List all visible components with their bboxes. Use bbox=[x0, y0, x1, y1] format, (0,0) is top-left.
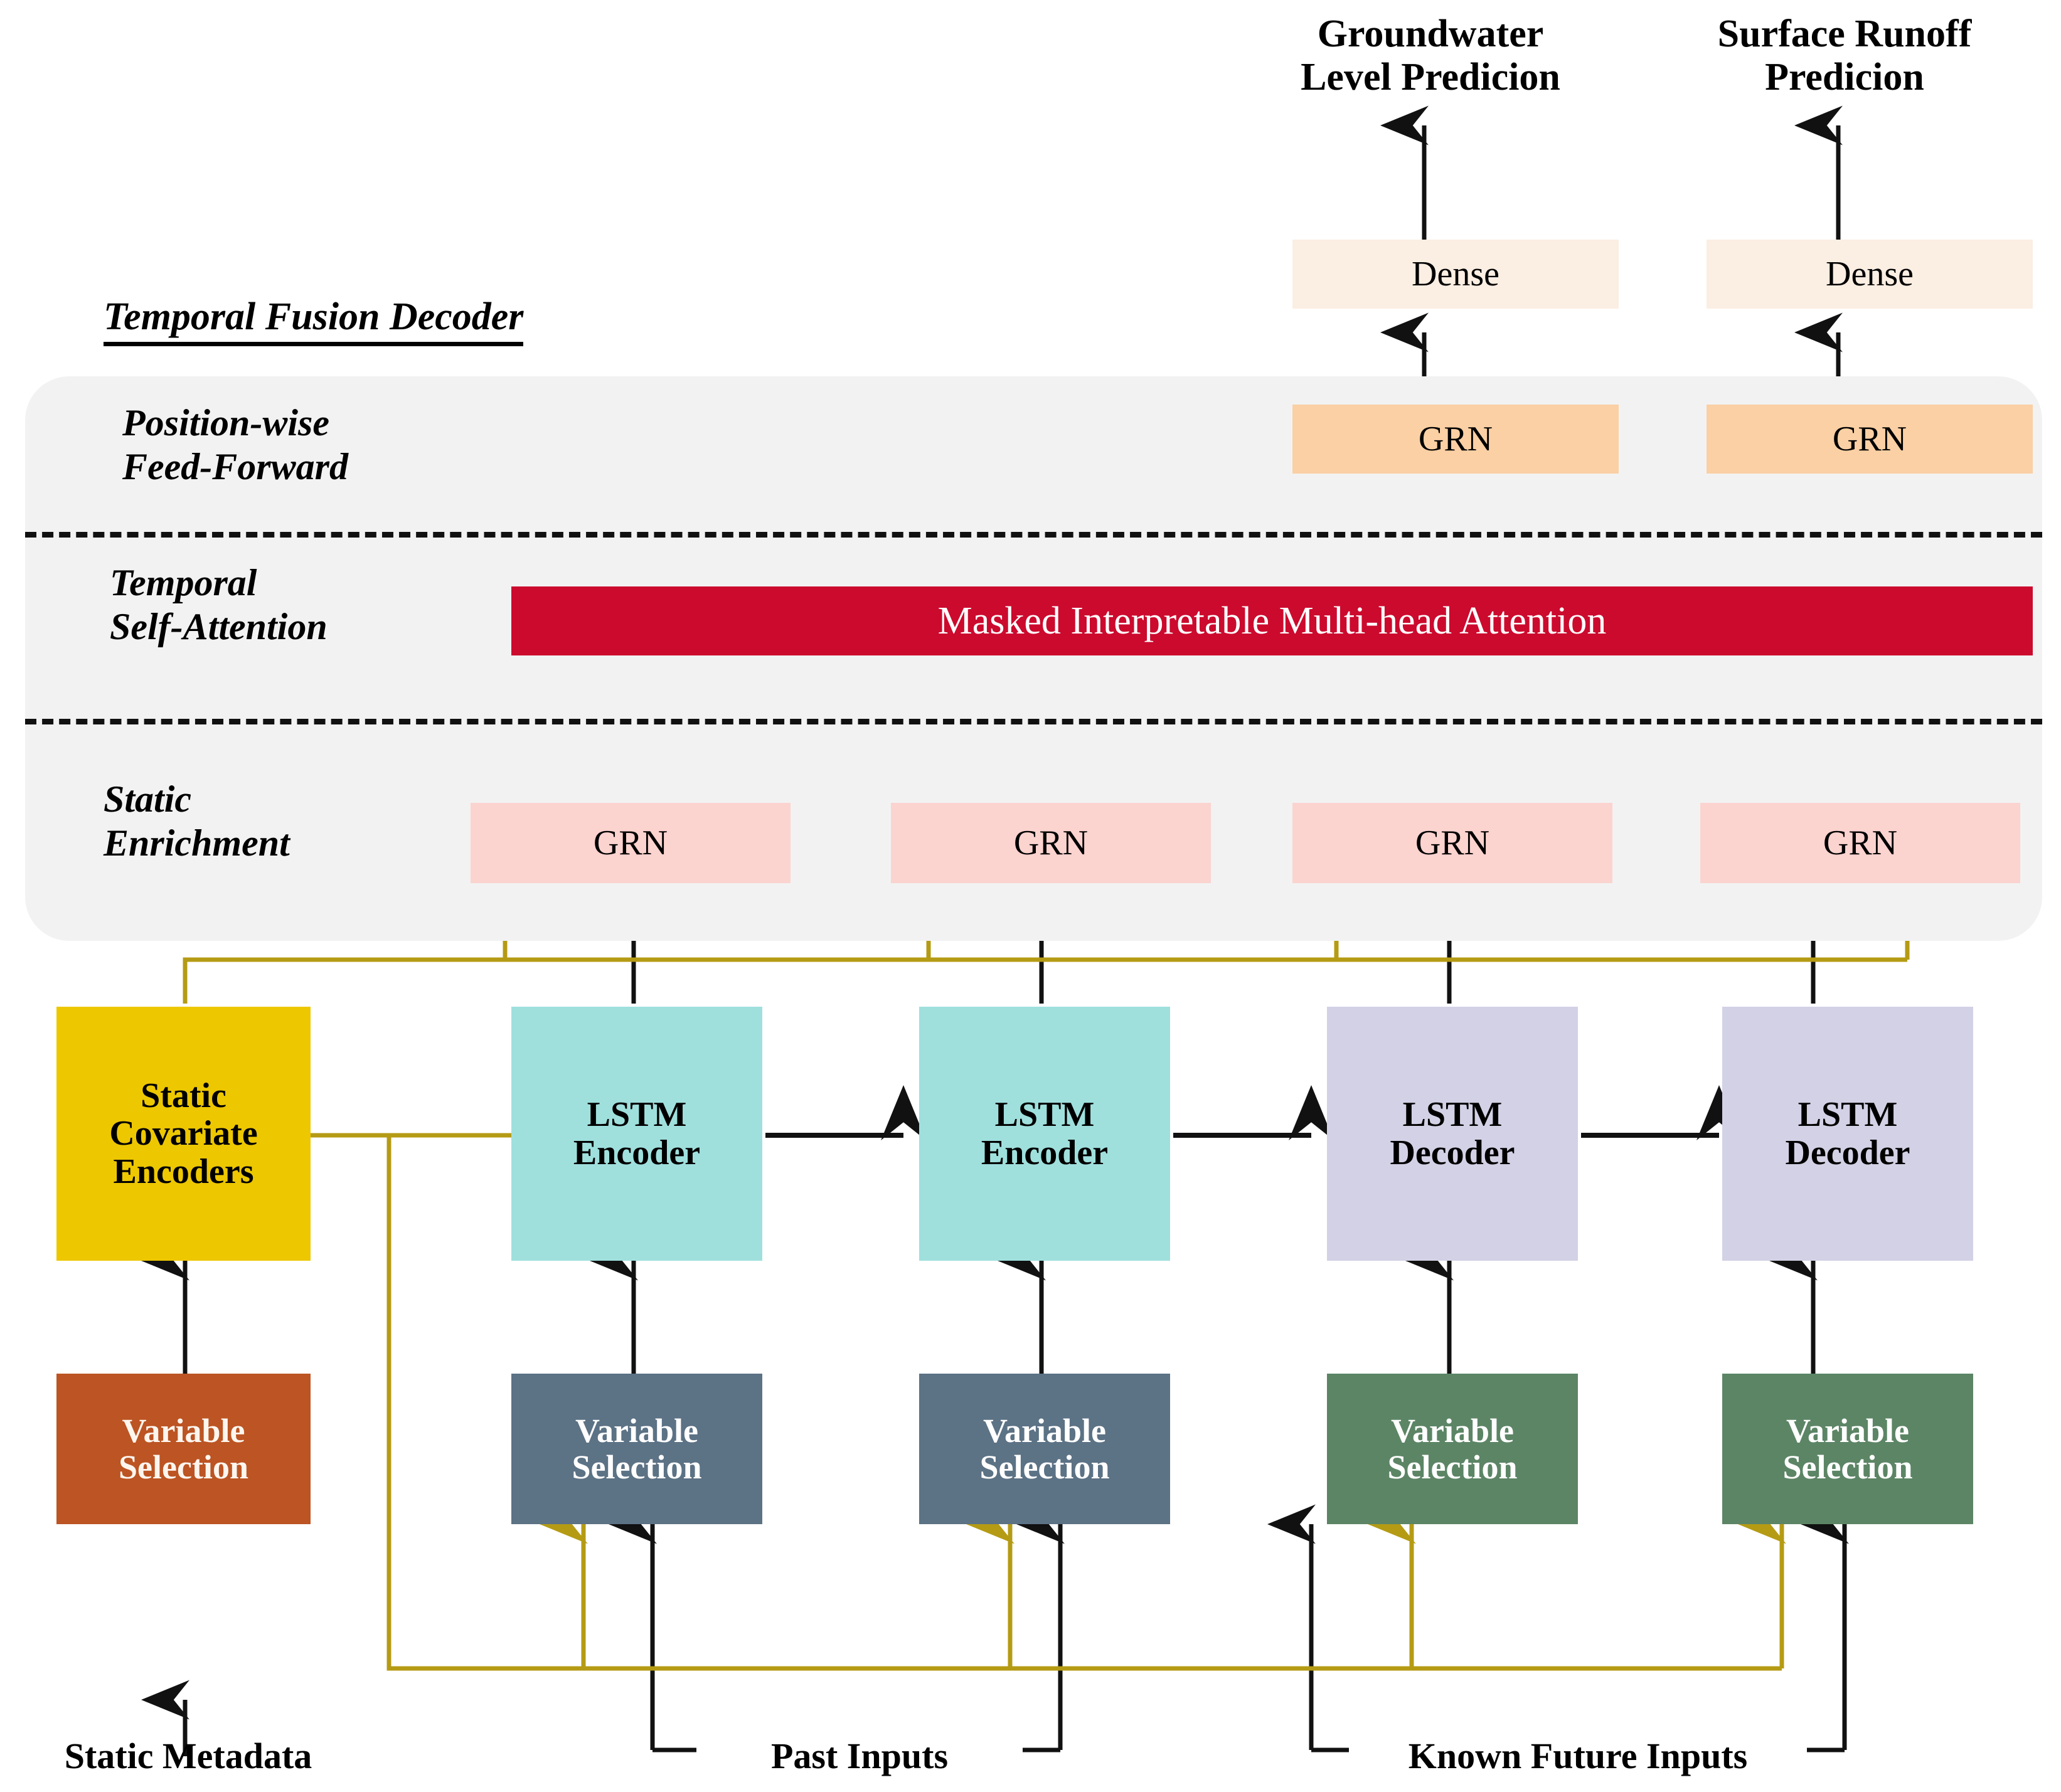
diagram-canvas: Temporal Fusion Decoder Position-wise Fe… bbox=[0, 0, 2061, 1792]
lstm-decoder-1-line2: Decoder bbox=[1390, 1134, 1515, 1172]
grn-block-static-enrichment-3[interactable]: GRN bbox=[1292, 803, 1612, 883]
masked-attention-label: Masked Interpretable Multi-head Attentio… bbox=[938, 600, 1607, 642]
past-inputs-text: Past Inputs bbox=[771, 1737, 948, 1776]
tsa-line2: Self-Attention bbox=[110, 605, 486, 649]
grn-block-feedforward-2[interactable]: GRN bbox=[1707, 405, 2033, 474]
output-label-surface-runoff: Surface Runoff Predicion bbox=[1644, 13, 2045, 100]
sce-line3: Encoders bbox=[114, 1153, 254, 1190]
grn-block-static-enrichment-1[interactable]: GRN bbox=[471, 803, 791, 883]
groundwater-line1: Groundwater bbox=[1318, 13, 1544, 56]
grn-se-3-label: GRN bbox=[1415, 824, 1489, 862]
lstm-decoder-1-line1: LSTM bbox=[1403, 1096, 1503, 1133]
input-feed-lines bbox=[185, 1524, 1845, 1756]
grn-se-4-label: GRN bbox=[1823, 824, 1897, 862]
se-line2: Enrichment bbox=[104, 822, 480, 866]
se-line1: Static bbox=[104, 778, 480, 822]
masked-attention-block[interactable]: Masked Interpretable Multi-head Attentio… bbox=[511, 586, 2033, 655]
known-future-inputs-text: Known Future Inputs bbox=[1409, 1737, 1747, 1776]
tsa-line1: Temporal bbox=[110, 561, 486, 605]
section-label-static-enrichment: Static Enrichment bbox=[104, 778, 480, 865]
lstm-decoder-2-line2: Decoder bbox=[1785, 1134, 1910, 1172]
pwff-line2: Feed-Forward bbox=[122, 445, 474, 489]
variable-selection-block-past-2[interactable]: Variable Selection bbox=[919, 1374, 1170, 1524]
grn-se-1-label: GRN bbox=[594, 824, 668, 862]
grn-block-feedforward-1[interactable]: GRN bbox=[1292, 405, 1619, 474]
dense-surface-runoff-label: Dense bbox=[1826, 255, 1914, 293]
vs-past-2-line2: Selection bbox=[980, 1449, 1110, 1485]
vs-future-2-line1: Variable bbox=[1786, 1413, 1909, 1449]
lstm-encoder-2-line1: LSTM bbox=[995, 1096, 1095, 1133]
grn-block-static-enrichment-4[interactable]: GRN bbox=[1700, 803, 2020, 883]
surface-runoff-line2: Predicion bbox=[1765, 56, 1924, 99]
lstm-encoder-block-1[interactable]: LSTM Encoder bbox=[511, 1007, 762, 1261]
input-label-past-inputs: Past Inputs bbox=[703, 1731, 1016, 1781]
vs-future-1-line1: Variable bbox=[1391, 1413, 1514, 1449]
input-label-static-metadata: Static Metadata bbox=[0, 1731, 376, 1781]
static-context-routing bbox=[185, 884, 1907, 1668]
lstm-encoder-1-line2: Encoder bbox=[573, 1134, 700, 1172]
vs-static-line2: Selection bbox=[119, 1449, 248, 1485]
vs-past-2-line1: Variable bbox=[983, 1413, 1106, 1449]
sce-line2: Covariate bbox=[109, 1115, 257, 1152]
dense-block-surface-runoff[interactable]: Dense bbox=[1707, 240, 2033, 309]
input-label-known-future-inputs: Known Future Inputs bbox=[1355, 1731, 1801, 1781]
section-label-temporal-self-attention: Temporal Self-Attention bbox=[110, 561, 486, 649]
lstm-decoder-block-1[interactable]: LSTM Decoder bbox=[1327, 1007, 1578, 1261]
vs-static-line1: Variable bbox=[122, 1413, 245, 1449]
lstm-encoder-2-line2: Encoder bbox=[981, 1134, 1108, 1172]
variable-selection-block-static[interactable]: Variable Selection bbox=[56, 1374, 311, 1524]
lstm-decoder-2-line1: LSTM bbox=[1798, 1096, 1898, 1133]
lstm-encoder-1-line1: LSTM bbox=[587, 1096, 687, 1133]
tfd-title-text: Temporal Fusion Decoder bbox=[104, 295, 523, 346]
grn-ff-1-label: GRN bbox=[1419, 420, 1493, 458]
grn-block-static-enrichment-2[interactable]: GRN bbox=[891, 803, 1211, 883]
sce-line1: Static bbox=[141, 1077, 226, 1115]
groundwater-line2: Level Predicion bbox=[1301, 56, 1560, 99]
lstm-encoder-block-2[interactable]: LSTM Encoder bbox=[919, 1007, 1170, 1261]
temporal-fusion-decoder-title: Temporal Fusion Decoder bbox=[104, 295, 523, 346]
variable-selection-block-future-1[interactable]: Variable Selection bbox=[1327, 1374, 1578, 1524]
vs-future-1-line2: Selection bbox=[1388, 1449, 1518, 1485]
dense-block-groundwater[interactable]: Dense bbox=[1292, 240, 1619, 309]
output-label-groundwater: Groundwater Level Predicion bbox=[1230, 13, 1631, 100]
lstm-decoder-block-2[interactable]: LSTM Decoder bbox=[1722, 1007, 1973, 1261]
static-covariate-encoders-block[interactable]: Static Covariate Encoders bbox=[56, 1007, 311, 1261]
surface-runoff-line1: Surface Runoff bbox=[1718, 13, 1972, 56]
section-label-position-wise-feed-forward: Position-wise Feed-Forward bbox=[122, 401, 474, 489]
grn-ff-2-label: GRN bbox=[1833, 420, 1907, 458]
divider-feedforward-attention bbox=[25, 532, 2042, 538]
divider-attention-enrichment bbox=[25, 719, 2042, 724]
vs-past-1-line1: Variable bbox=[575, 1413, 698, 1449]
variable-selection-block-future-2[interactable]: Variable Selection bbox=[1722, 1374, 1973, 1524]
vs-past-1-line2: Selection bbox=[572, 1449, 702, 1485]
variable-selection-block-past-1[interactable]: Variable Selection bbox=[511, 1374, 762, 1524]
dense-groundwater-label: Dense bbox=[1412, 255, 1499, 293]
pwff-line1: Position-wise bbox=[122, 401, 474, 445]
static-metadata-text: Static Metadata bbox=[65, 1737, 312, 1776]
grn-se-2-label: GRN bbox=[1014, 824, 1088, 862]
vs-future-2-line2: Selection bbox=[1783, 1449, 1913, 1485]
